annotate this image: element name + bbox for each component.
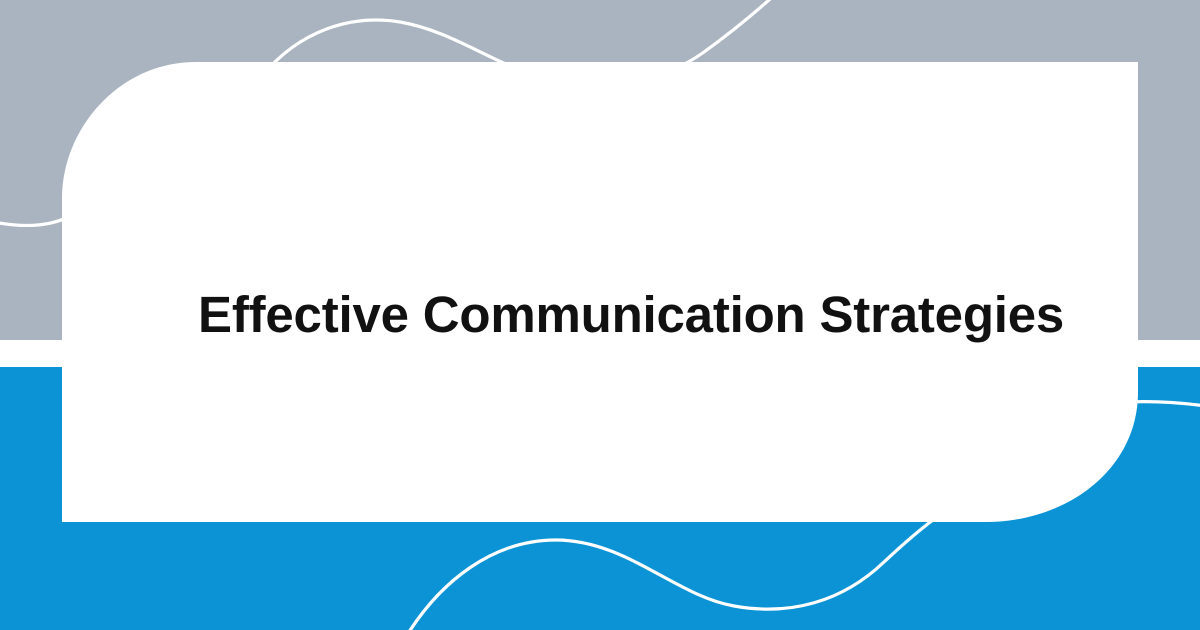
banner-canvas: Effective Communication Strategies xyxy=(0,0,1200,630)
banner-graphics xyxy=(0,0,1200,630)
white-rounded-card xyxy=(62,62,1138,522)
